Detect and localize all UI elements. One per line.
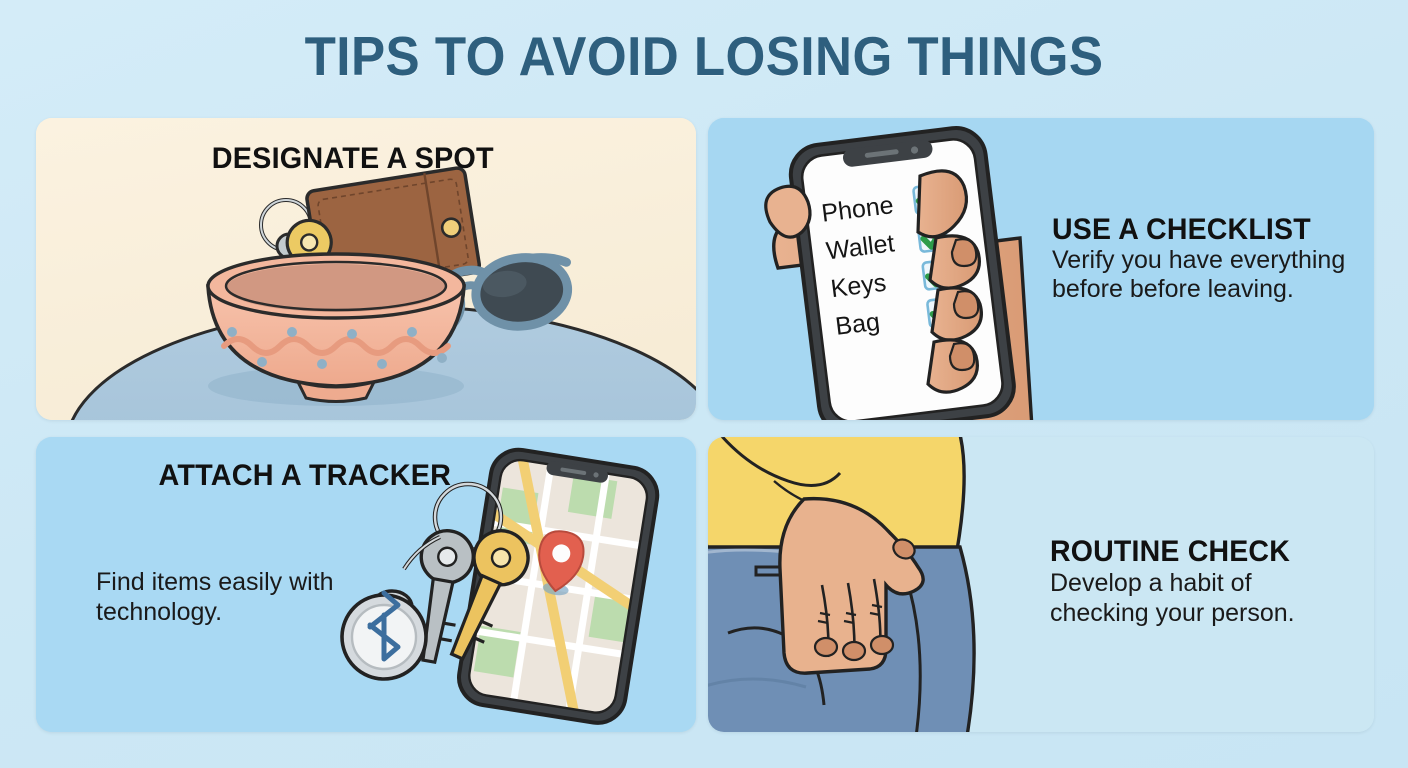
panel-use-a-checklist: Phone Wallet Keys Bag <box>708 118 1374 420</box>
panel-heading: USE A CHECKLIST <box>1052 213 1311 247</box>
panel-heading: ROUTINE CHECK <box>1050 535 1290 569</box>
panel-body: Develop a habit of checking your person. <box>1050 568 1350 628</box>
panel-body: Find items easily with technology. <box>96 567 356 627</box>
panel-heading: DESIGNATE A SPOT <box>36 142 670 176</box>
svg-text:Bag: Bag <box>834 308 882 341</box>
infographic-page: TIPS TO AVOID LOSING THINGS <box>0 0 1408 768</box>
panel-designate-a-spot: DESIGNATE A SPOT Always place essentials… <box>36 118 696 420</box>
panel-routine-check: ROUTINE CHECK Develop a habit of checkin… <box>708 437 1374 732</box>
panel-attach-a-tracker: ATTACH A TRACKER Find items easily with … <box>36 437 696 732</box>
page-title: TIPS TO AVOID LOSING THINGS <box>49 24 1358 88</box>
panel-heading: ATTACH A TRACKER <box>36 459 574 493</box>
panel-body: Verify you have everything before before… <box>1052 246 1352 305</box>
